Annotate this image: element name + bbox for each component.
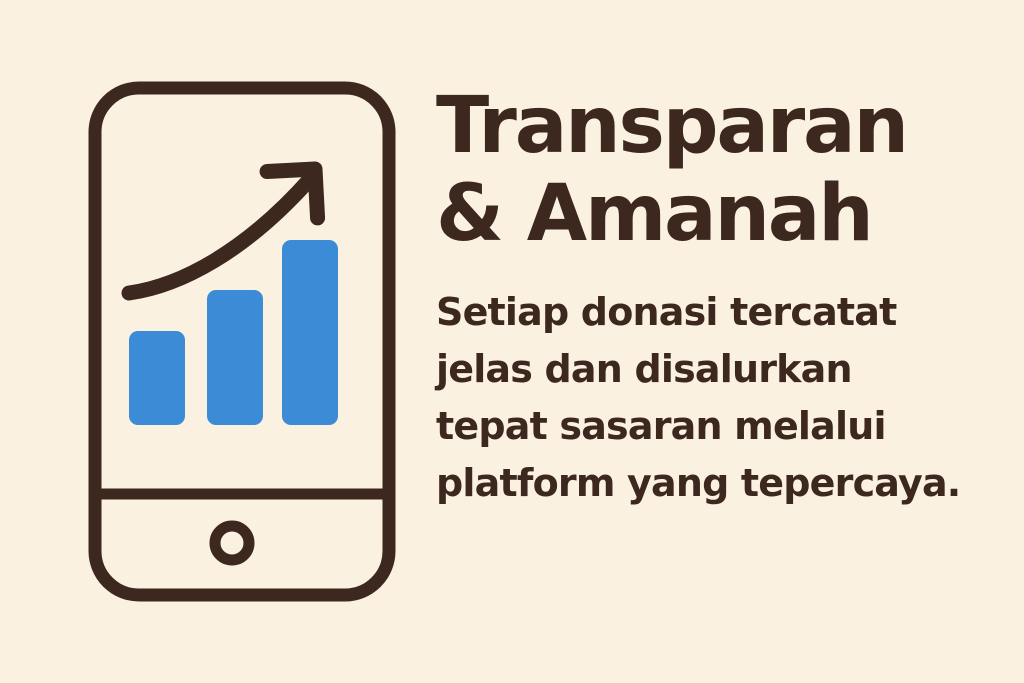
chart-bar-2 — [207, 290, 263, 425]
page-title: Transparan & Amanah — [436, 82, 996, 258]
page-description: Setiap donasi tercatat jelas dan disalur… — [436, 258, 996, 512]
copy-block: Transparan & Amanah Setiap donasi tercat… — [436, 82, 996, 512]
chart-bar-3 — [282, 240, 338, 425]
chart-bar-1 — [129, 331, 185, 425]
promo-card: Transparan & Amanah Setiap donasi tercat… — [0, 0, 1024, 683]
smartphone-growth-illustration — [70, 62, 410, 614]
